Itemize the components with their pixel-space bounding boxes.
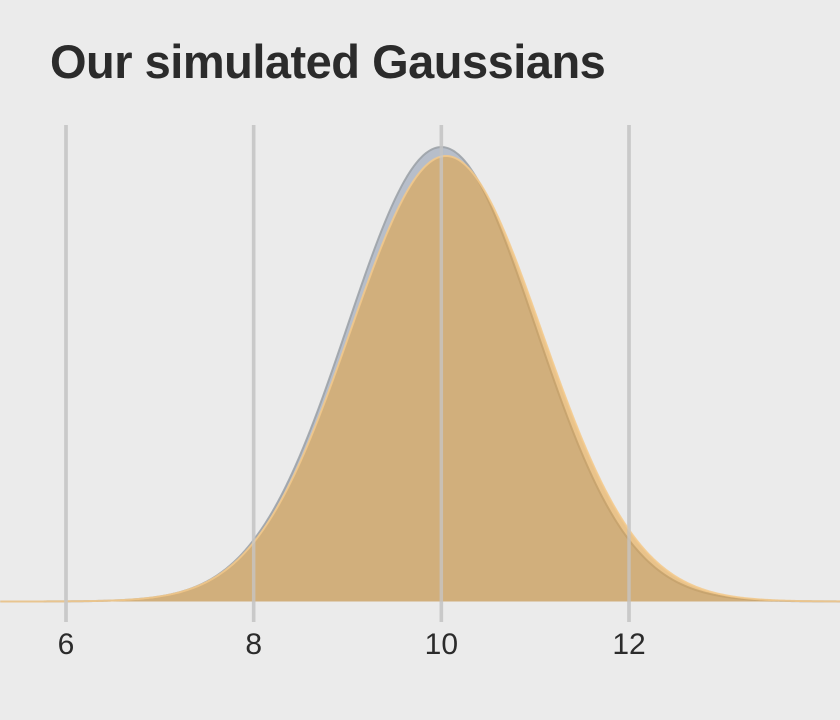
density-plot-svg xyxy=(0,0,840,720)
chart-root: Our simulated Gaussians 681012 xyxy=(0,0,840,720)
density-curves-group xyxy=(0,147,840,601)
x-tick-label-12: 12 xyxy=(612,628,645,662)
plot-panel xyxy=(0,0,840,720)
x-tick-label-8: 8 xyxy=(245,628,262,662)
x-tick-label-6: 6 xyxy=(58,628,75,662)
x-tick-label-10: 10 xyxy=(425,628,458,662)
density-area-gaussian-b xyxy=(0,156,840,602)
